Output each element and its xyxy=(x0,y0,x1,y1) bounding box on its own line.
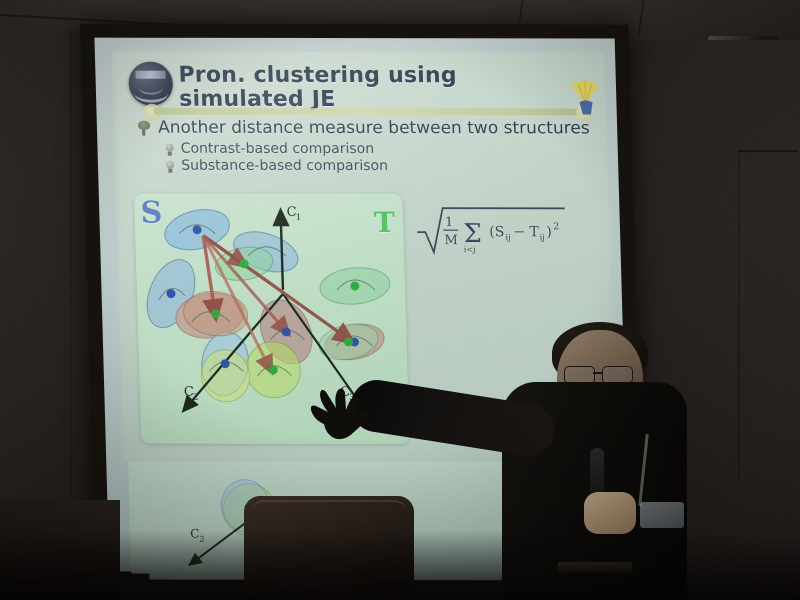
title-divider-bar xyxy=(153,108,583,116)
institution-seal-logo xyxy=(128,62,173,106)
bullet-level2: Substance-based comparison xyxy=(165,158,600,175)
svg-text:i<j: i<j xyxy=(464,245,476,254)
svg-text:− T: − T xyxy=(513,224,540,240)
pointing-hand xyxy=(308,384,378,446)
room-foreground-shadow xyxy=(0,530,800,600)
bullet-text: Substance-based comparison xyxy=(181,158,388,174)
eyeglasses xyxy=(564,366,636,383)
name-badge xyxy=(640,502,684,528)
svg-text:1: 1 xyxy=(296,213,302,223)
logo-swoosh xyxy=(139,81,163,95)
svg-text:ij: ij xyxy=(505,233,511,243)
bullet-text: Another distance measure between two str… xyxy=(158,118,590,139)
svg-text:2: 2 xyxy=(553,221,559,232)
bullet-level2: Contrast-based comparison xyxy=(164,141,599,158)
presentation-photo: S T C 1 C 2 xyxy=(0,0,800,600)
slide-bullet-list: Another distance measure between two str… xyxy=(138,118,600,176)
mic-holding-hand xyxy=(584,492,636,534)
fan-ornament-icon xyxy=(565,74,606,116)
ceiling-grid-line xyxy=(518,0,523,22)
rms-distance-formula: 1 M Σ i<j (S ij − T ij ) 2 xyxy=(414,202,602,262)
bulb-bullet-icon xyxy=(165,144,175,157)
logo-bar xyxy=(135,71,165,79)
svg-text:M: M xyxy=(444,233,458,248)
tree-bullet-icon xyxy=(138,121,151,136)
bullet-text: Contrast-based comparison xyxy=(180,141,374,157)
svg-text:(S: (S xyxy=(489,224,505,240)
wall-seam xyxy=(738,150,740,480)
svg-text:2: 2 xyxy=(193,393,199,403)
svg-text:1: 1 xyxy=(445,215,454,230)
slide-title: Pron. clustering using simulated JE xyxy=(178,64,590,113)
svg-text:): ) xyxy=(546,224,552,240)
ceiling-grid-line xyxy=(638,0,645,36)
bullet-level1: Another distance measure between two str… xyxy=(138,118,599,139)
wall-seam xyxy=(738,150,798,152)
bulb-bullet-icon xyxy=(165,161,175,174)
svg-text:ij: ij xyxy=(539,233,545,243)
axis-c1 xyxy=(281,212,283,290)
